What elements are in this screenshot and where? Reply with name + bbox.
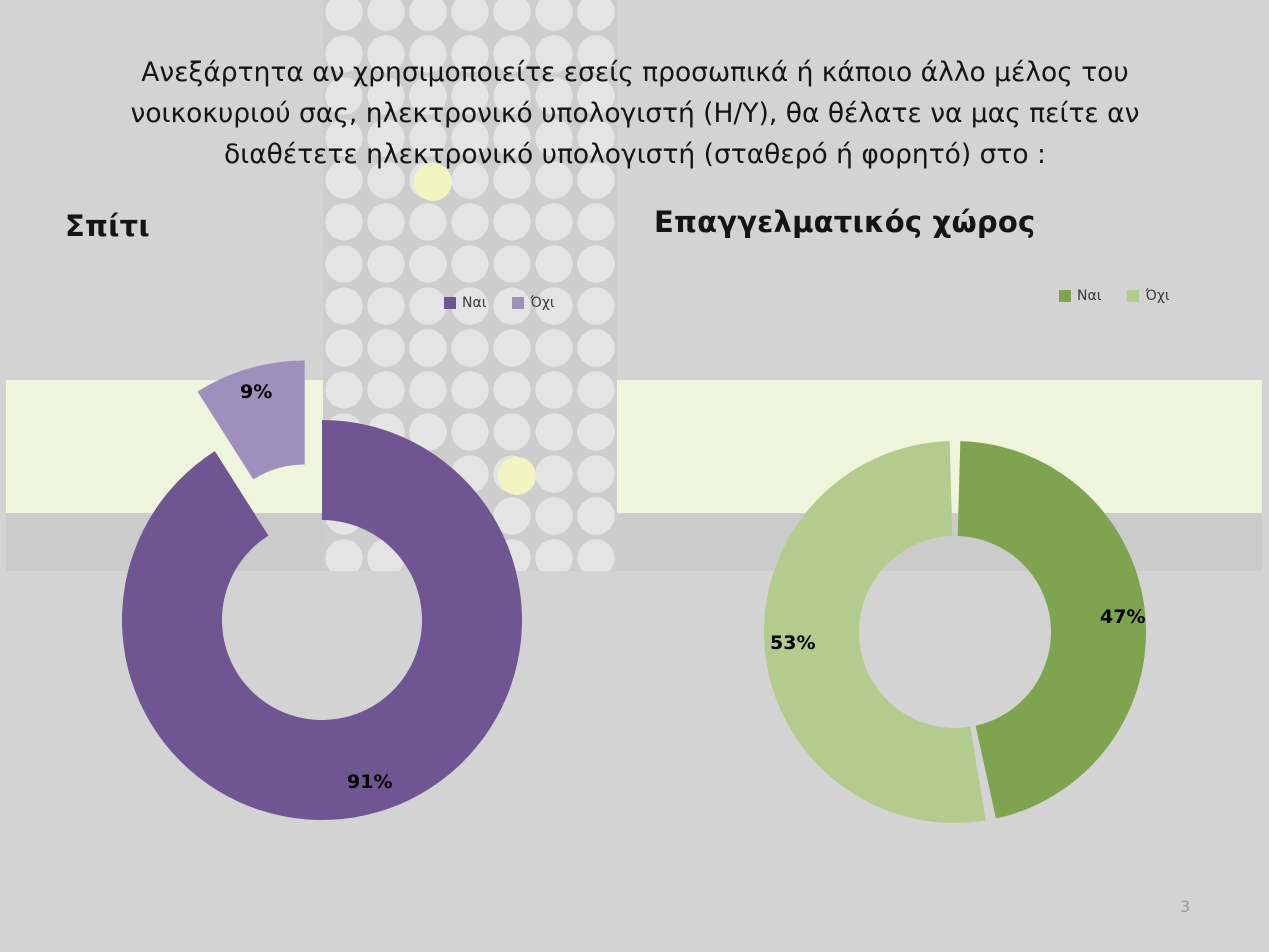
slide-headline: Ανεξάρτητα αν χρησιμοποιείτε εσείς προσω… <box>70 52 1200 175</box>
legend-swatch-icon <box>512 297 524 309</box>
legend-swatch-icon <box>444 297 456 309</box>
donut-slice-nai <box>958 441 1146 818</box>
donut-chart-workplace <box>718 420 1192 844</box>
chart-title-home: Σπίτι <box>65 209 150 243</box>
legend-item-ochi: Όχι <box>512 295 554 311</box>
legend-label: Όχι <box>530 295 554 311</box>
slide-canvas: Ανεξάρτητα αν χρησιμοποιείτε εσείς προσω… <box>0 0 1269 952</box>
legend-swatch-icon <box>1059 290 1071 302</box>
donut-chart-home <box>110 320 550 830</box>
page-number: 3 <box>1180 897 1190 916</box>
legend-home: Ναι Όχι <box>444 295 555 311</box>
chart-title-workplace: Επαγγελματικός χώρος <box>654 205 1035 239</box>
legend-workplace: Ναι Όχι <box>1059 288 1170 304</box>
donut-slice-ochi <box>764 441 986 823</box>
legend-label: Ναι <box>462 295 486 311</box>
legend-label: Όχι <box>1145 288 1169 304</box>
donut-slice-nai <box>122 420 522 820</box>
legend-label: Ναι <box>1077 288 1101 304</box>
legend-item-nai: Ναι <box>444 295 486 311</box>
legend-swatch-icon <box>1127 290 1139 302</box>
legend-item-ochi: Όχι <box>1127 288 1169 304</box>
legend-item-nai: Ναι <box>1059 288 1101 304</box>
